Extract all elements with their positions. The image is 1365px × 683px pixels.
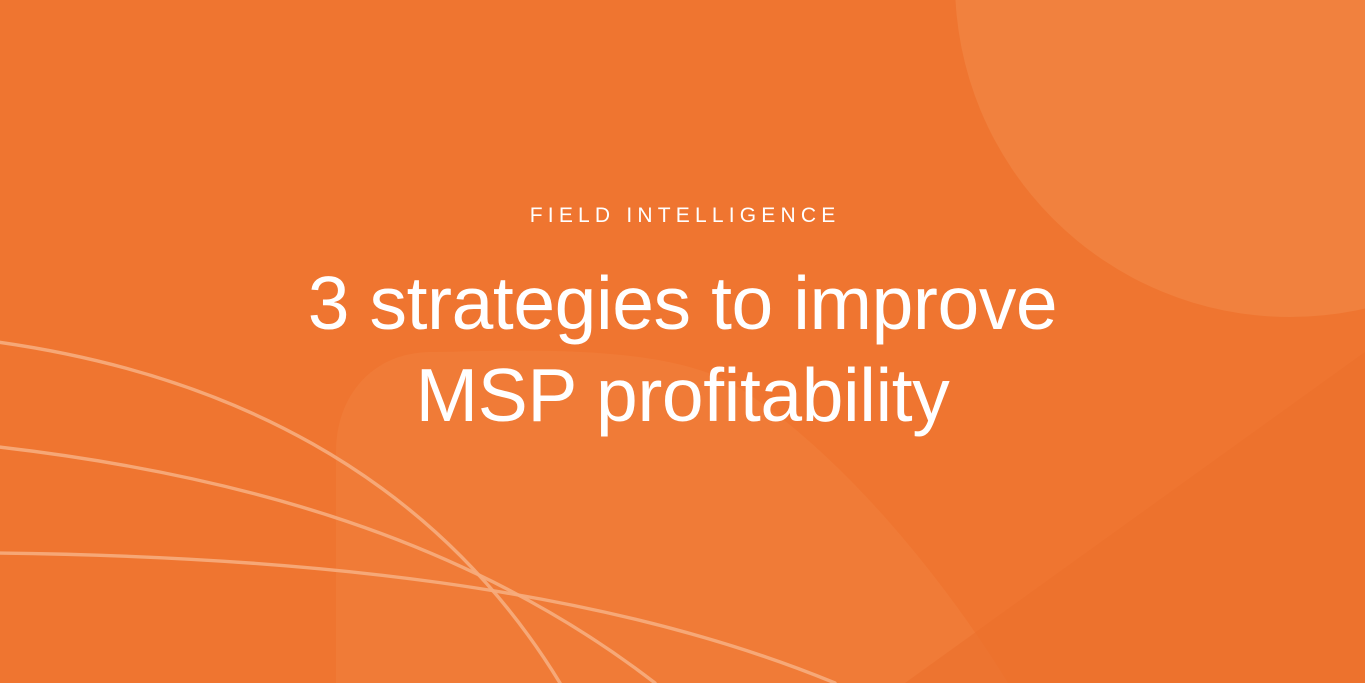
headline-line-2: MSP profitability <box>308 350 1057 442</box>
page-title: 3 strategies to improve MSP profitabilit… <box>308 258 1057 441</box>
headline-line-1: 3 strategies to improve <box>308 258 1057 350</box>
banner-content: FIELD INTELLIGENCE 3 strategies to impro… <box>0 0 1365 683</box>
promo-banner: FIELD INTELLIGENCE 3 strategies to impro… <box>0 0 1365 683</box>
eyebrow-label: FIELD INTELLIGENCE <box>525 205 841 226</box>
